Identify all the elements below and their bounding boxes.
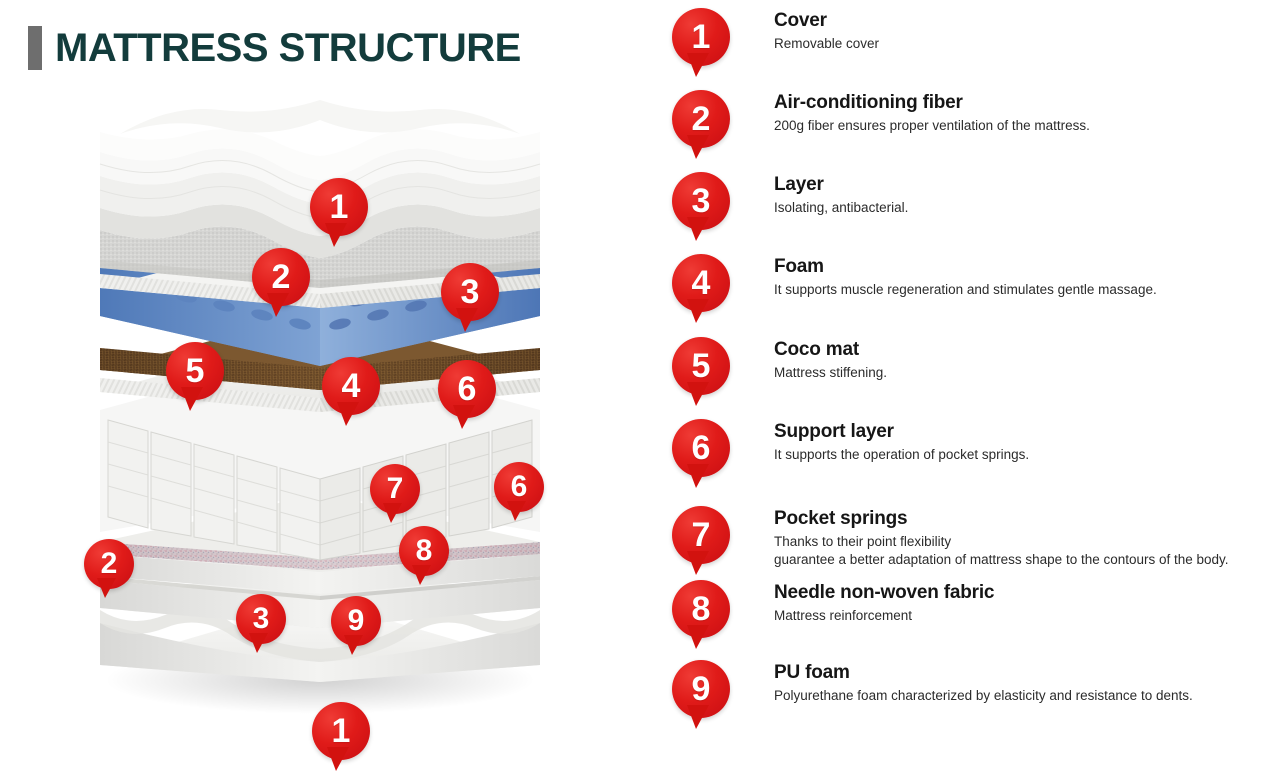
pin-number: 6 xyxy=(494,462,544,512)
legend-title: Pocket springs xyxy=(774,508,1254,530)
title-accent-bar xyxy=(28,26,42,70)
pin-number: 8 xyxy=(672,580,730,638)
pin-number: 3 xyxy=(672,172,730,230)
legend-description: Mattress stiffening. xyxy=(774,364,1254,382)
legend-desc-line-2: guarantee a better adaptation of mattres… xyxy=(774,551,1254,569)
legend-description: Thanks to their point flexibility guaran… xyxy=(774,533,1254,569)
callout-pin-6-support-upper[interactable]: 6 xyxy=(438,360,496,432)
callout-pin-3-layer[interactable]: 3 xyxy=(441,263,499,335)
pin-number: 8 xyxy=(399,526,449,576)
legend-title: Layer xyxy=(774,174,1254,196)
legend-title: Air-conditioning fiber xyxy=(774,92,1254,114)
legend-text-block: Coco mat Mattress stiffening. xyxy=(774,339,1254,382)
legend-pin-5[interactable]: 5 xyxy=(672,337,730,409)
legend-text-block: Support layer It supports the operation … xyxy=(774,421,1254,464)
callout-pin-9-pu-foam[interactable]: 9 xyxy=(331,596,381,658)
legend-description: It supports the operation of pocket spri… xyxy=(774,446,1254,464)
legend-text-block: Layer Isolating, antibacterial. xyxy=(774,174,1254,217)
title-label: MATTRESS STRUCTURE xyxy=(55,28,521,68)
legend-pin-7[interactable]: 7 xyxy=(672,506,730,578)
mattress-illustration: 1 2 3 5 4 6 7 6 8 2 3 9 1 xyxy=(20,80,620,720)
legend-pin-4[interactable]: 4 xyxy=(672,254,730,326)
page-title: MATTRESS STRUCTURE xyxy=(28,26,521,70)
pin-number: 7 xyxy=(672,506,730,564)
legend-text-block: Cover Removable cover xyxy=(774,10,1254,53)
mattress-diagram xyxy=(20,80,620,720)
legend-pin-9[interactable]: 9 xyxy=(672,660,730,732)
pin-number: 1 xyxy=(672,8,730,66)
legend-pin-3[interactable]: 3 xyxy=(672,172,730,244)
pin-number: 5 xyxy=(166,342,224,400)
callout-pin-6-support-lower[interactable]: 6 xyxy=(494,462,544,524)
legend-title: Coco mat xyxy=(774,339,1254,361)
infographic-page: MATTRESS STRUCTURE xyxy=(0,0,1280,743)
legend-desc-line-1: Polyurethane foam characterized by elast… xyxy=(774,687,1254,705)
legend-description: Isolating, antibacterial. xyxy=(774,199,1254,217)
legend-title: Support layer xyxy=(774,421,1254,443)
legend-pin-1[interactable]: 1 xyxy=(672,8,730,80)
pin-number: 3 xyxy=(441,263,499,321)
pin-number: 6 xyxy=(672,419,730,477)
pin-number: 5 xyxy=(672,337,730,395)
pin-number: 1 xyxy=(310,178,368,236)
pin-number: 4 xyxy=(672,254,730,312)
callout-pin-7-springs[interactable]: 7 xyxy=(370,464,420,526)
legend-text-block: Foam It supports muscle regeneration and… xyxy=(774,256,1254,299)
pin-number: 2 xyxy=(84,539,134,589)
callout-pin-5-coco[interactable]: 5 xyxy=(166,342,224,414)
legend-list: 1 Cover Removable cover 2 Air-conditioni… xyxy=(672,0,1272,743)
callout-pin-1-bottom[interactable]: 1 xyxy=(312,702,370,774)
callout-pin-2-fiber-lower[interactable]: 2 xyxy=(84,539,134,601)
legend-description: Polyurethane foam characterized by elast… xyxy=(774,687,1254,705)
legend-description: It supports muscle regeneration and stim… xyxy=(774,281,1254,299)
pin-number: 1 xyxy=(312,702,370,760)
legend-desc-line-1: 200g fiber ensures proper ventilation of… xyxy=(774,117,1254,135)
legend-text-block: Needle non-woven fabric Mattress reinfor… xyxy=(774,582,1254,625)
pin-number: 2 xyxy=(672,90,730,148)
callout-pin-3-layer-lower[interactable]: 3 xyxy=(236,594,286,656)
legend-text-block: Air-conditioning fiber 200g fiber ensure… xyxy=(774,92,1254,135)
callout-pin-2-fiber[interactable]: 2 xyxy=(252,248,310,320)
legend-desc-line-1: Thanks to their point flexibility xyxy=(774,533,1254,551)
legend-desc-line-1: Mattress reinforcement xyxy=(774,607,1254,625)
legend-title: Foam xyxy=(774,256,1254,278)
legend-title: PU foam xyxy=(774,662,1254,684)
legend-title: Needle non-woven fabric xyxy=(774,582,1254,604)
legend-pin-2[interactable]: 2 xyxy=(672,90,730,162)
legend-text-block: PU foam Polyurethane foam characterized … xyxy=(774,662,1254,705)
pin-number: 6 xyxy=(438,360,496,418)
legend-desc-line-1: Removable cover xyxy=(774,35,1254,53)
pin-number: 9 xyxy=(331,596,381,646)
pin-number: 7 xyxy=(370,464,420,514)
callout-pin-4-foam[interactable]: 4 xyxy=(322,357,380,429)
callout-pin-8-needle[interactable]: 8 xyxy=(399,526,449,588)
pin-number: 4 xyxy=(322,357,380,415)
pin-number: 3 xyxy=(236,594,286,644)
legend-desc-line-1: It supports muscle regeneration and stim… xyxy=(774,281,1254,299)
legend-title: Cover xyxy=(774,10,1254,32)
legend-desc-line-1: Mattress stiffening. xyxy=(774,364,1254,382)
legend-description: Removable cover xyxy=(774,35,1254,53)
legend-pin-8[interactable]: 8 xyxy=(672,580,730,652)
legend-desc-line-1: Isolating, antibacterial. xyxy=(774,199,1254,217)
pin-number: 2 xyxy=(252,248,310,306)
legend-description: 200g fiber ensures proper ventilation of… xyxy=(774,117,1254,135)
callout-pin-1-top[interactable]: 1 xyxy=(310,178,368,250)
legend-pin-6[interactable]: 6 xyxy=(672,419,730,491)
pin-number: 9 xyxy=(672,660,730,718)
legend-desc-line-1: It supports the operation of pocket spri… xyxy=(774,446,1254,464)
legend-description: Mattress reinforcement xyxy=(774,607,1254,625)
legend-text-block: Pocket springs Thanks to their point fle… xyxy=(774,508,1254,569)
